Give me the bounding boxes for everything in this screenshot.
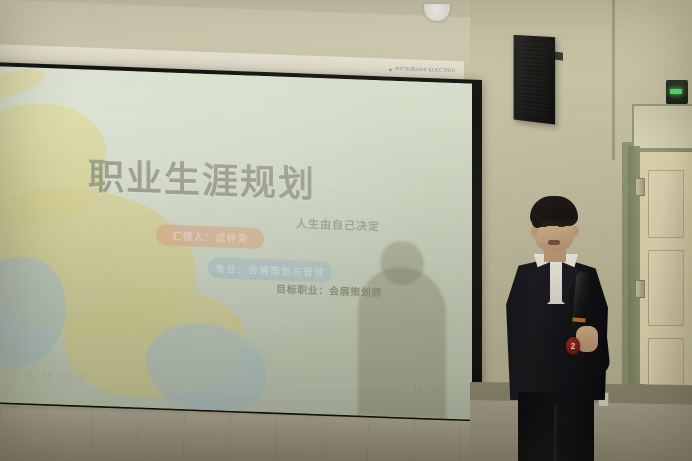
presenter-number-badge: 2 bbox=[566, 337, 580, 355]
map-land-shape-4 bbox=[0, 66, 48, 104]
presenter-badge-number: 2 bbox=[566, 337, 580, 355]
door-hinge-middle bbox=[635, 280, 645, 298]
map-water-shape-2 bbox=[146, 322, 266, 416]
wall-corner-edge bbox=[612, 0, 615, 160]
presenter-mouth bbox=[548, 240, 560, 245]
microphone-color-band bbox=[572, 317, 585, 322]
wall-mounted-speaker bbox=[514, 35, 555, 125]
slide-tagline: 人生由自己决定 bbox=[296, 215, 380, 234]
presentation-room-photo: ▲MITSUBISHI ELECTRIC 职业生涯规划 人生由自己决定 汇报人：… bbox=[0, 0, 692, 461]
door-transom-window bbox=[632, 104, 692, 150]
presenter-ear-right bbox=[572, 226, 579, 237]
speaker-grille bbox=[518, 43, 550, 116]
green-status-led-icon bbox=[670, 89, 682, 94]
door-panel-top bbox=[648, 170, 684, 238]
watermark-left-text: A M O F bbox=[26, 368, 90, 383]
slide-title: 职业生涯规划 bbox=[88, 148, 316, 208]
door-hinge-top bbox=[635, 178, 645, 196]
door-access-indicator[interactable] bbox=[666, 80, 688, 104]
mitsubishi-logo-icon: ▲ bbox=[388, 67, 393, 73]
projection-screen-frame: 职业生涯规划 人生由自己决定 汇报人：成梓荣 专业：会展策划与管理 目标职业：会… bbox=[0, 62, 482, 430]
slide-canvas: 职业生涯规划 人生由自己决定 汇报人：成梓荣 专业：会展策划与管理 目标职业：会… bbox=[0, 66, 472, 419]
room-door[interactable] bbox=[640, 152, 692, 424]
presenter-shadow-on-screen bbox=[358, 265, 446, 418]
presenter: 2 bbox=[498, 196, 616, 461]
slide-presenter-pill: 汇报人：成梓荣 bbox=[156, 224, 264, 249]
projection-screen-surface: 职业生涯规划 人生由自己决定 汇报人：成梓荣 专业：会展策划与管理 目标职业：会… bbox=[0, 66, 472, 419]
presenter-trousers bbox=[518, 392, 594, 461]
door-panel-middle bbox=[648, 250, 684, 326]
slide-major-pill: 专业：会展策划与管理 bbox=[208, 257, 332, 283]
presenter-hair bbox=[530, 196, 578, 226]
